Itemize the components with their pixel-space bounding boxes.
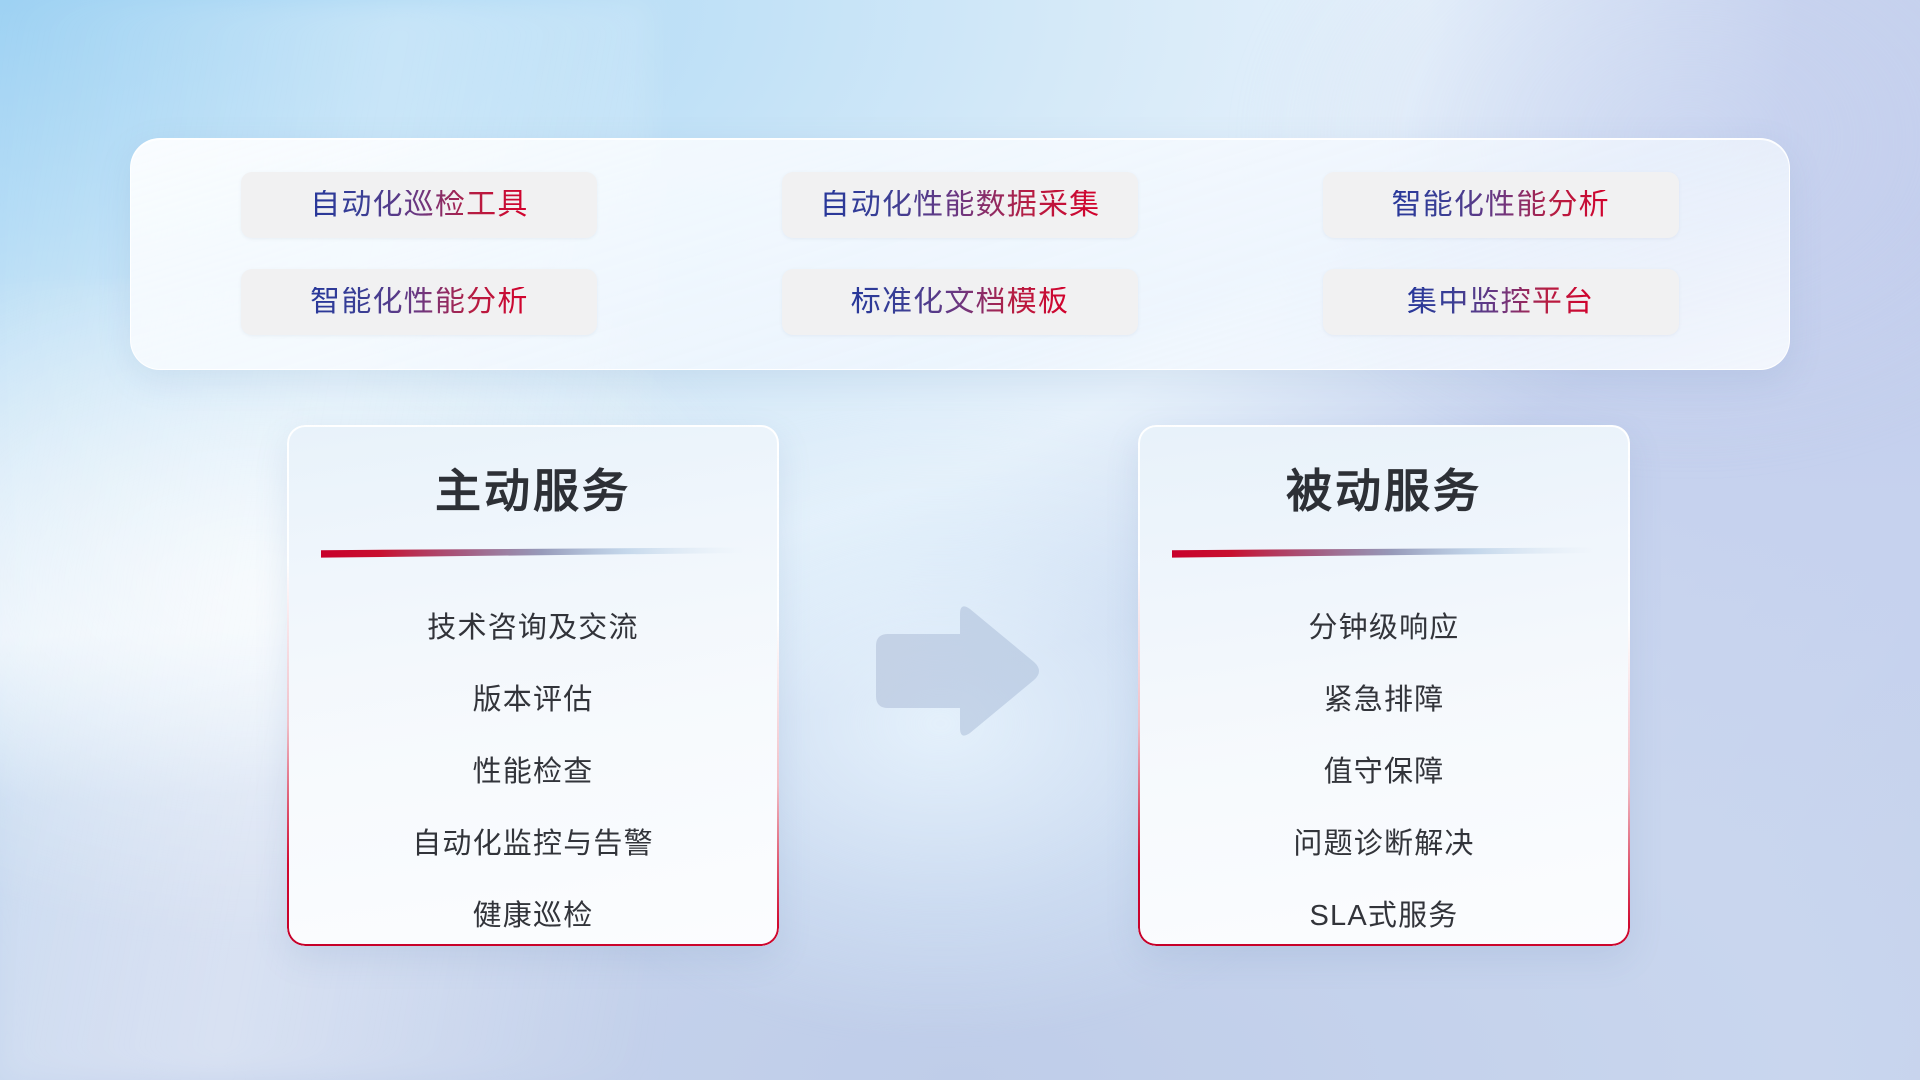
title-divider — [1172, 547, 1596, 558]
service-card-proactive: 主动服务 技术咨询及交流 版本评估 性能检查 自动化监控与告警 健康巡检 — [287, 425, 779, 946]
capability-tag[interactable]: 智能化性能分析 — [1323, 172, 1679, 238]
capability-tag-label: 自动化性能数据采集 — [820, 190, 1101, 220]
capability-tag-label: 自动化巡检工具 — [310, 190, 528, 220]
capability-tag-label: 集中监控平台 — [1407, 287, 1594, 317]
list-item: 健康巡检 — [473, 880, 594, 946]
capability-tag-label: 标准化文档模板 — [851, 287, 1069, 317]
service-card-title: 被动服务 — [1138, 455, 1630, 521]
capability-tag[interactable]: 智能化性能分析 — [241, 269, 597, 335]
list-item: 版本评估 — [473, 664, 594, 736]
service-item-list: 技术咨询及交流 版本评估 性能检查 自动化监控与告警 健康巡检 — [287, 592, 779, 946]
service-card-title: 主动服务 — [287, 455, 779, 521]
capabilities-panel: 自动化巡检工具 自动化性能数据采集 智能化性能分析 智能化性能分析 标准化文档模… — [130, 138, 1790, 370]
list-item: 技术咨询及交流 — [427, 592, 638, 664]
list-item: 性能检查 — [473, 736, 594, 808]
capability-tag[interactable]: 自动化性能数据采集 — [782, 172, 1138, 238]
flow-arrow-right-icon — [868, 600, 1044, 742]
list-item: 紧急排障 — [1324, 664, 1445, 736]
capability-tag-label: 智能化性能分析 — [310, 287, 528, 317]
capability-tag[interactable]: 自动化巡检工具 — [241, 172, 597, 238]
service-card-reactive: 被动服务 分钟级响应 紧急排障 值守保障 问题诊断解决 SLA式服务 — [1138, 425, 1630, 946]
capability-tag[interactable]: 集中监控平台 — [1323, 269, 1679, 335]
service-item-list: 分钟级响应 紧急排障 值守保障 问题诊断解决 SLA式服务 — [1138, 592, 1630, 946]
title-divider — [321, 547, 745, 558]
list-item: 值守保障 — [1324, 736, 1445, 808]
list-item: 分钟级响应 — [1308, 592, 1459, 664]
list-item: SLA式服务 — [1309, 880, 1458, 946]
capability-tag-label: 智能化性能分析 — [1391, 190, 1609, 220]
capability-tag[interactable]: 标准化文档模板 — [782, 269, 1138, 335]
list-item: 自动化监控与告警 — [412, 808, 654, 880]
list-item: 问题诊断解决 — [1293, 808, 1474, 880]
